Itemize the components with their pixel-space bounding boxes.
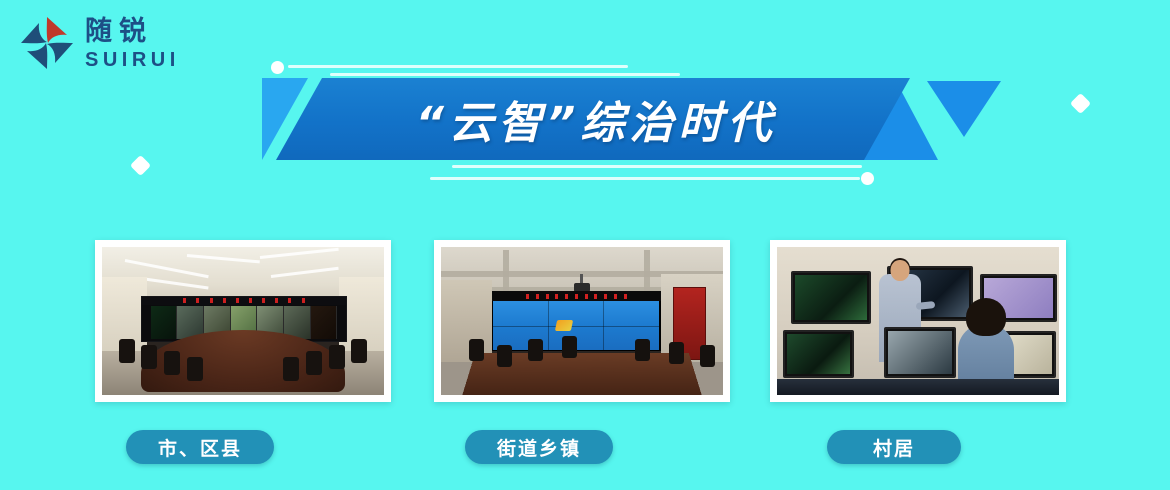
wall-left bbox=[441, 280, 492, 363]
chair bbox=[562, 336, 577, 358]
slide-root: 随锐 SUIRUI “云智”综治时代 bbox=[0, 0, 1170, 490]
ceiling-beam bbox=[644, 250, 650, 291]
banner-triangle-down-icon bbox=[927, 81, 1001, 137]
desk-monitor bbox=[783, 330, 855, 378]
desk-monitor bbox=[884, 327, 956, 378]
township-meeting-room-photo bbox=[441, 247, 723, 395]
white-diamond-icon-right bbox=[1070, 93, 1091, 114]
led-ticker bbox=[492, 291, 661, 300]
photo-frame bbox=[770, 240, 1066, 402]
chair bbox=[187, 357, 203, 381]
chair bbox=[700, 345, 715, 367]
chair bbox=[635, 339, 650, 361]
card-street-township[interactable]: 街道乡镇 bbox=[434, 240, 730, 402]
title-banner: “云智”综治时代 bbox=[262, 78, 942, 160]
white-accent-line-top-1 bbox=[288, 65, 628, 68]
card-caption-city-district[interactable]: 市、区县 bbox=[126, 430, 274, 464]
brand-name-en: SUIRUI bbox=[85, 50, 180, 70]
white-accent-line-bottom-1 bbox=[452, 165, 862, 168]
chair bbox=[669, 342, 684, 364]
os-flag-icon bbox=[555, 320, 573, 331]
led-ticker bbox=[142, 297, 345, 305]
chair bbox=[528, 339, 543, 361]
brand-logo-text: 随锐 SUIRUI bbox=[85, 16, 180, 70]
chair bbox=[164, 351, 180, 375]
white-accent-line-top-2 bbox=[330, 73, 680, 76]
brand-name-cn: 随锐 bbox=[85, 18, 180, 45]
head bbox=[890, 260, 909, 281]
banner-band: “云智”综治时代 bbox=[276, 78, 910, 160]
command-center-conference-room-photo bbox=[102, 247, 384, 395]
chair bbox=[497, 345, 512, 367]
card-row: 市、区县 bbox=[0, 240, 1170, 470]
page-title: “云智”综治时代 bbox=[276, 78, 910, 160]
card-caption-village[interactable]: 村居 bbox=[827, 430, 961, 464]
suirui-pinwheel-logo-icon bbox=[18, 14, 76, 72]
card-caption-street-township[interactable]: 街道乡镇 bbox=[465, 430, 613, 464]
chair bbox=[283, 357, 299, 381]
chair bbox=[469, 339, 484, 361]
white-diamond-icon-left bbox=[130, 155, 151, 176]
projector bbox=[574, 283, 590, 292]
photo-frame bbox=[95, 240, 391, 402]
brand-logo[interactable]: 随锐 SUIRUI bbox=[18, 14, 180, 72]
white-accent-line-bottom-2 bbox=[430, 177, 860, 180]
card-village[interactable]: 村居 bbox=[770, 240, 1066, 402]
head bbox=[966, 298, 1006, 336]
white-dot-icon-bottom bbox=[861, 172, 874, 185]
chair bbox=[141, 345, 157, 369]
chair bbox=[306, 351, 322, 375]
ceiling-beam bbox=[503, 250, 509, 291]
white-dot-icon-top bbox=[271, 61, 284, 74]
chair bbox=[351, 339, 367, 363]
wall-monitor bbox=[791, 271, 871, 324]
console-desk bbox=[777, 379, 1059, 395]
chair bbox=[119, 339, 135, 363]
village-monitoring-room-photo bbox=[777, 247, 1059, 395]
photo-frame bbox=[434, 240, 730, 402]
chair bbox=[329, 345, 345, 369]
card-city-district[interactable]: 市、区县 bbox=[95, 240, 391, 402]
